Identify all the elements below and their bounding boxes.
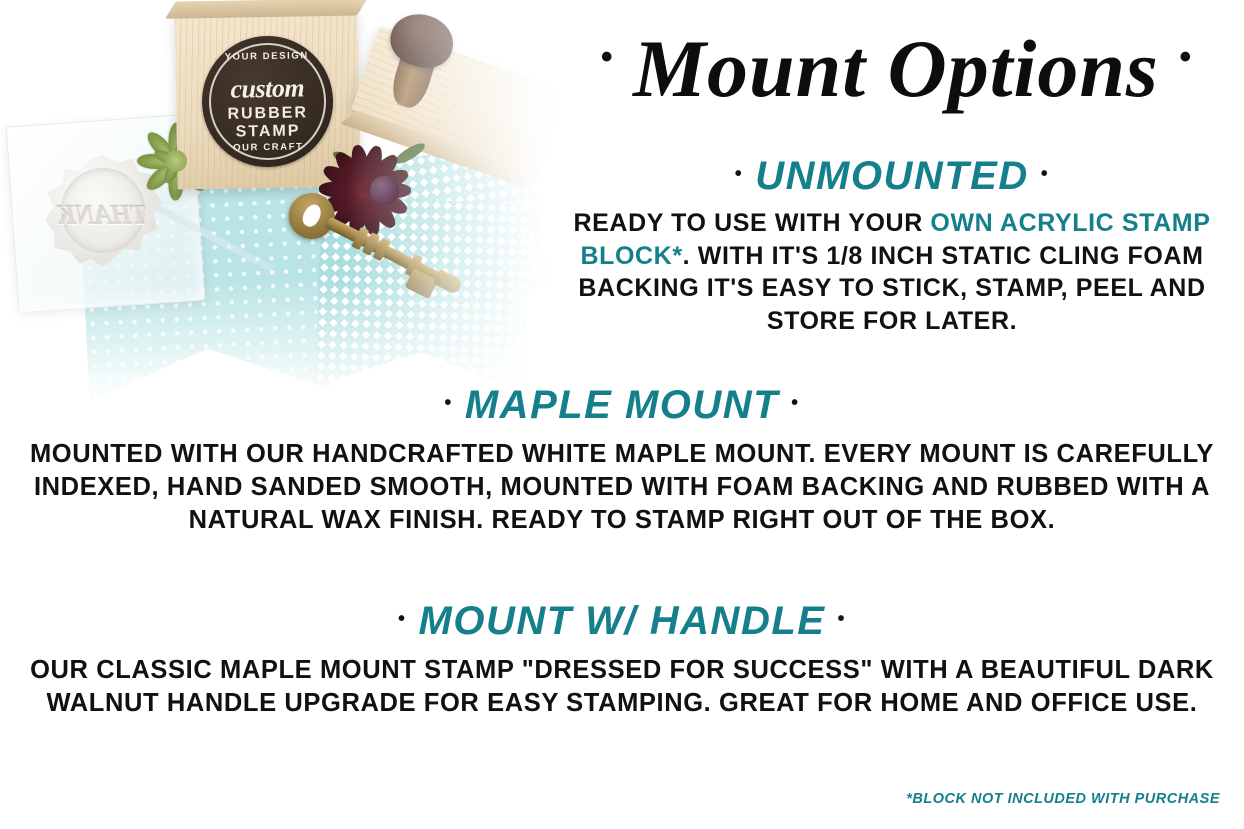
heading-text: MOUNT W/ HANDLE [419,599,826,643]
heading-bullet-right: • [1029,163,1062,185]
logo-arc-top-text: YOUR DESIGN [201,50,332,63]
heading-bullet-right: • [825,608,858,630]
heading-bullet-left: • [386,608,419,630]
heading-bullet-right: • [779,392,812,414]
section-heading-maple-mount: •MAPLE MOUNT• [22,384,1222,426]
section-mount-w-handle: •MOUNT W/ HANDLE• OUR CLASSIC MAPLE MOUN… [22,600,1222,720]
succulent-core [165,150,187,172]
section-maple-mount: •MAPLE MOUNT• MOUNTED WITH OUR HANDCRAFT… [22,384,1222,537]
title-bullet-left: • [601,38,613,76]
section-heading-unmounted: •UNMOUNTED• [568,155,1216,197]
title-bullet-right: • [1179,38,1191,76]
logo-line-stamp: STAMP [202,122,333,142]
stamp-word: THANK [44,200,162,231]
heading-bullet-left: • [432,392,465,414]
page-title: • Mount Options • [556,28,1236,110]
page-title-text: Mount Options [633,23,1159,114]
flower-center [370,176,399,205]
section-unmounted: •UNMOUNTED• READY TO USE WITH YOUR OWN A… [568,155,1216,337]
body-part: READY TO USE WITH YOUR [574,209,931,237]
logo-arc-bottom-text: OUR CRAFT [203,141,334,154]
logo-script-text: custom [202,73,334,105]
key-tip [433,269,463,295]
footnote-disclaimer: *BLOCK NOT INCLUDED WITH PURCHASE [906,791,1220,807]
heading-text: UNMOUNTED [755,154,1028,198]
product-photo: THANK YOUR DESIGN custom RUBBER [0,0,560,420]
heading-text: MAPLE MOUNT [465,383,779,427]
custom-rubber-stamp-logo: YOUR DESIGN custom RUBBER STAMP OUR CRAF… [201,35,334,168]
section-body-unmounted: READY TO USE WITH YOUR OWN ACRYLIC STAMP… [568,207,1216,337]
heading-bullet-left: • [723,163,756,185]
section-body-mount-w-handle: OUR CLASSIC MAPLE MOUNT STAMP "DRESSED F… [22,654,1222,720]
mount-options-infographic: THANK YOUR DESIGN custom RUBBER [0,0,1244,829]
section-body-maple-mount: MOUNTED WITH OUR HANDCRAFTED WHITE MAPLE… [22,438,1222,537]
block-top-edge [165,0,367,19]
section-heading-mount-w-handle: •MOUNT W/ HANDLE• [22,600,1222,642]
logo-line-rubber: RUBBER [202,104,333,124]
